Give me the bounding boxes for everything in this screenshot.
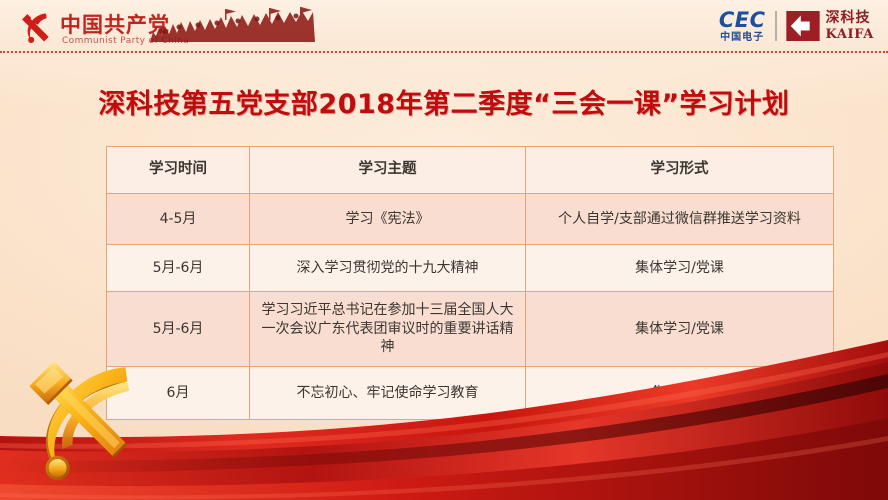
gold-hammer-sickle-emblem-icon — [18, 356, 150, 484]
hammer-sickle-icon — [16, 8, 54, 46]
header-dotted-rule — [0, 51, 888, 53]
cell-form: 个人自学/支部通过微信群推送学习资料 — [526, 194, 834, 245]
cell-topic: 深入学习贯彻党的十九大精神 — [250, 245, 526, 292]
corporate-logos: CEC 中国电子 深科技 KAIFA — [719, 5, 874, 47]
revolution-monument-relief-icon — [150, 6, 315, 42]
cell-topic: 学习习近平总书记在参加十三届全国人大一次会议广东代表团审议时的重要讲话精神 — [250, 292, 526, 367]
cec-wordmark: CEC — [719, 10, 766, 31]
cell-form: 集体学习/党课 — [526, 292, 834, 367]
poster-canvas: 中国共产党 Communist Party of China CEC — [0, 0, 888, 500]
cell-form: 集体学习/党课 — [526, 245, 834, 292]
kaifa-name-en: KAIFA — [826, 28, 875, 41]
column-header-form: 学习形式 — [526, 147, 834, 194]
cell-time: 5月-6月 — [107, 245, 250, 292]
kaifa-logo: 深科技 KAIFA — [786, 11, 875, 41]
table-row: 6月 不忘初心、牢记使命学习教育 集体学习 — [107, 367, 834, 420]
page-header: 中国共产党 Communist Party of China CEC — [0, 0, 888, 52]
cec-subtitle: 中国电子 — [719, 33, 766, 43]
table-row: 5月-6月 深入学习贯彻党的十九大精神 集体学习/党课 — [107, 245, 834, 292]
kaifa-wordmark: 深科技 KAIFA — [826, 11, 875, 41]
study-plan-table-wrapper: 学习时间 学习主题 学习形式 4-5月 学习《宪法》 个人自学/支部通过微信群推… — [106, 146, 782, 420]
cell-topic: 不忘初心、牢记使命学习教育 — [250, 367, 526, 420]
study-plan-table: 学习时间 学习主题 学习形式 4-5月 学习《宪法》 个人自学/支部通过微信群推… — [106, 146, 834, 420]
table-row: 5月-6月 学习习近平总书记在参加十三届全国人大一次会议广东代表团审议时的重要讲… — [107, 292, 834, 367]
cell-topic: 学习《宪法》 — [250, 194, 526, 245]
table-row: 4-5月 学习《宪法》 个人自学/支部通过微信群推送学习资料 — [107, 194, 834, 245]
cell-time: 4-5月 — [107, 194, 250, 245]
logo-divider — [775, 11, 777, 41]
column-header-topic: 学习主题 — [250, 147, 526, 194]
table-header-row: 学习时间 学习主题 学习形式 — [107, 147, 834, 194]
cell-form: 集体学习 — [526, 367, 834, 420]
cec-logo: CEC 中国电子 — [719, 10, 766, 43]
kaifa-name-cn: 深科技 — [826, 11, 875, 25]
page-title: 深科技第五党支部2018年第二季度“三会一课”学习计划 — [0, 82, 888, 121]
kaifa-k-logo-icon — [786, 11, 820, 41]
column-header-time: 学习时间 — [107, 147, 250, 194]
